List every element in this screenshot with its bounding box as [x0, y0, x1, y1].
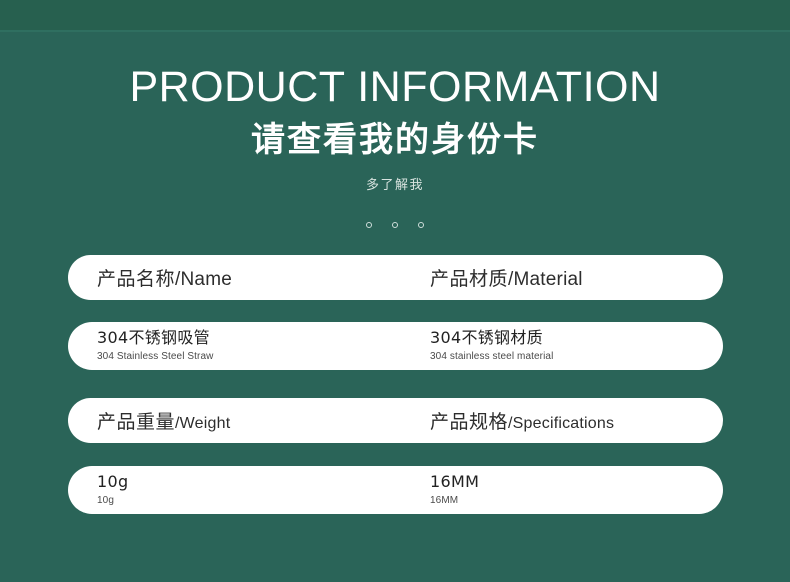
spec-header-label-cn: 产品材质	[430, 268, 508, 290]
page-title-english: PRODUCT INFORMATION	[0, 62, 790, 112]
spec-header-label-cn: 产品名称	[97, 268, 175, 290]
spec-value-cn: 304不锈钢吸管	[97, 328, 213, 348]
top-strip	[0, 0, 790, 30]
spec-header-row: 产品重量/Weight 产品规格/Specifications	[68, 398, 723, 443]
spec-header-label-cn: 产品规格	[430, 411, 508, 433]
page-subtitle: 多了解我	[0, 177, 790, 195]
spec-header-row: 产品名称/Name 产品材质/Material	[68, 255, 723, 300]
dot-icon	[418, 222, 424, 228]
banner-header: PRODUCT INFORMATION 请查看我的身份卡 多了解我	[0, 62, 790, 195]
spec-value-cell-name: 304不锈钢吸管 304 Stainless Steel Straw	[97, 322, 213, 370]
spec-value-en: 16MM	[430, 494, 479, 508]
spec-value-en: 304 Stainless Steel Straw	[97, 350, 213, 364]
spec-value-cell-specifications: 16MM 16MM	[430, 466, 479, 514]
spec-value-cell-weight: 10g 10g	[97, 466, 128, 514]
spec-header-label-en: Weight	[180, 415, 231, 432]
spec-header-cell-weight: 产品重量/Weight	[97, 398, 230, 443]
page-title-chinese: 请查看我的身份卡	[0, 117, 790, 163]
spec-value-en: 10g	[97, 494, 128, 508]
spec-header-label-en: Name	[181, 269, 232, 290]
spec-header-cell-material: 产品材质/Material	[430, 255, 583, 300]
spec-header-cell-name: 产品名称/Name	[97, 255, 232, 300]
dot-icon	[366, 222, 372, 228]
spec-header-label-en: Material	[514, 269, 583, 290]
decorative-dots	[0, 222, 790, 228]
spec-value-cn: 304不锈钢材质	[430, 328, 553, 348]
spec-value-row: 10g 10g 16MM 16MM	[68, 466, 723, 514]
spec-header-cell-specifications: 产品规格/Specifications	[430, 398, 614, 443]
spec-header-label-en: Specifications	[513, 415, 615, 432]
spec-value-row: 304不锈钢吸管 304 Stainless Steel Straw 304不锈…	[68, 322, 723, 370]
dot-icon	[392, 222, 398, 228]
spec-value-en: 304 stainless steel material	[430, 350, 553, 364]
spec-header-label-cn: 产品重量	[97, 411, 175, 433]
product-information-banner: PRODUCT INFORMATION 请查看我的身份卡 多了解我 产品名称/N…	[0, 0, 790, 582]
spec-value-cn: 10g	[97, 472, 128, 492]
spec-value-cell-material: 304不锈钢材质 304 stainless steel material	[430, 322, 553, 370]
top-divider-line	[0, 30, 790, 32]
spec-value-cn: 16MM	[430, 472, 479, 492]
